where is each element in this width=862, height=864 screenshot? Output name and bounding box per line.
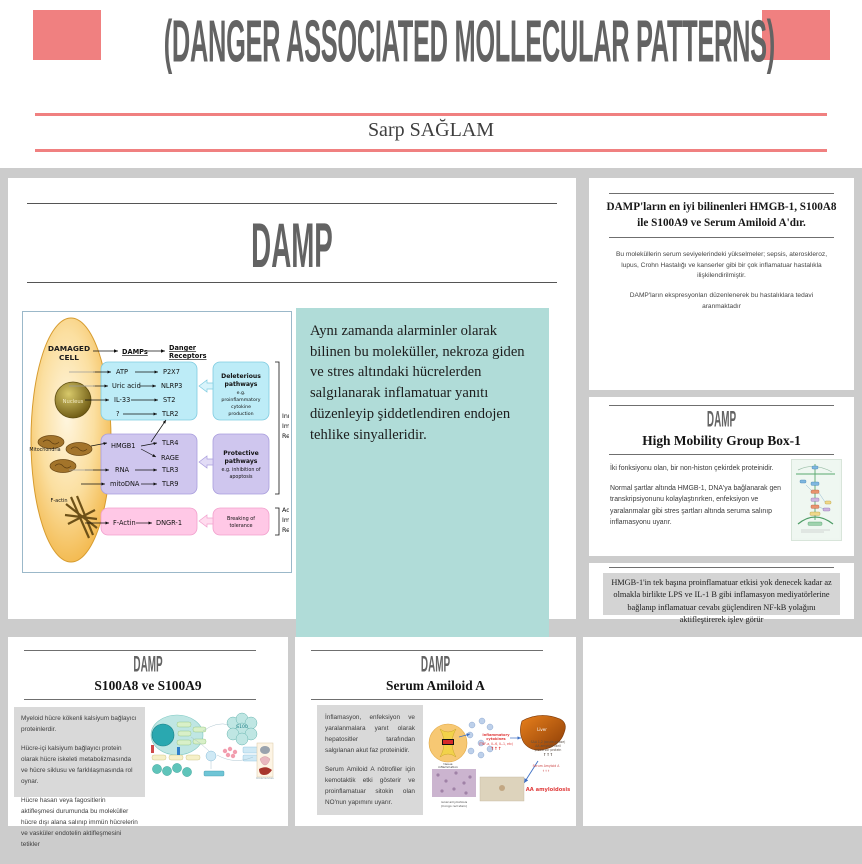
s100-body: Myeloid hücre kökenli kalsiyum bağlayıcı… <box>14 707 145 864</box>
hmgb1-callout-box: HMGB-1'in tek başına proinflamatuar etki… <box>603 573 840 615</box>
hmgb1-panel: DAMP High Mobility Group Box-1 İki fonks… <box>589 397 854 556</box>
svg-text:ATP: ATP <box>116 368 128 376</box>
hmgb1-divider-top <box>609 405 834 406</box>
svg-text:e.g.: e.g. <box>237 391 246 396</box>
best-known-paragraph-1: Bu moleküllerin serum seviyelerindeki yü… <box>611 250 832 282</box>
empty-panel <box>583 637 862 826</box>
best-known-body: Bu moleküllerin serum seviyelerindeki yü… <box>611 250 832 321</box>
svg-text:apoptosis: apoptosis <box>229 474 253 480</box>
hmgb1-paragraph-2: Normal şartlar altında HMGB-1, DNA'ya ba… <box>610 483 782 529</box>
svg-text:cytokine: cytokine <box>231 404 251 410</box>
svg-text:NLRP3: NLRP3 <box>161 382 182 390</box>
saa-mechanism-image: tissue inflammation Inflammatory cytokin… <box>426 703 572 815</box>
saa-mechanism-graphic: tissue inflammation Inflammatory cytokin… <box>426 703 572 815</box>
svg-text:DNGR-1: DNGR-1 <box>156 519 182 527</box>
saa-subtitle: Serum Amiloid A <box>295 678 576 694</box>
header-divider-top <box>35 113 827 116</box>
svg-text:P2X7: P2X7 <box>163 368 180 376</box>
svg-text:↑↑↑: ↑↑↑ <box>542 769 550 773</box>
svg-text:pathways: pathways <box>225 381 258 388</box>
svg-text:Responses: Responses <box>282 433 289 440</box>
hmgb1-pathway-graphic <box>792 460 839 538</box>
svg-text:Breaking of: Breaking of <box>227 516 255 522</box>
svg-text:Adaptive: Adaptive <box>282 507 289 514</box>
svg-text:ST2: ST2 <box>163 396 175 404</box>
svg-text:e.g. inhibition of: e.g. inhibition of <box>221 467 260 473</box>
svg-text:Serum Amyloid A: Serum Amyloid A <box>533 764 561 768</box>
s100-signaling-image: S100 <box>147 709 275 781</box>
svg-text:Danger: Danger <box>169 344 197 352</box>
svg-text:pathways: pathways <box>225 458 258 465</box>
svg-text:Protective: Protective <box>223 450 258 457</box>
svg-text:Mitochondria: Mitochondria <box>29 447 60 453</box>
poster-header: (DANGER ASSOCIATED MOLLECULAR PATTERNS) … <box>0 0 862 168</box>
svg-text:Uric acid: Uric acid <box>112 382 141 390</box>
svg-text:IL-33: IL-33 <box>114 396 130 404</box>
damp-definition-text: Aynı zamanda alarminler olarak bilinen b… <box>310 321 526 445</box>
svg-text:TLR9: TLR9 <box>161 480 178 488</box>
s100-divider-top <box>24 650 256 651</box>
s100-subtitle: S100A8 ve S100A9 <box>8 678 288 694</box>
best-known-paragraph-2: DAMP'ların ekspresyonları düzenlenerek b… <box>611 291 832 312</box>
svg-text:↑↑↑: ↑↑↑ <box>543 752 553 757</box>
hmgb1-body: İki fonksiyonu olan, bir non-histon çeki… <box>610 463 782 537</box>
svg-text:Deleterious: Deleterious <box>221 373 261 380</box>
best-known-title: DAMP'ların en iyi bilinenleri HMGB-1, S1… <box>605 200 838 231</box>
page-title: (DANGER ASSOCIATED MOLLECULAR PATTERNS) <box>164 8 698 76</box>
svg-text:Immune: Immune <box>282 423 289 430</box>
svg-text:?: ? <box>116 410 120 418</box>
saa-paragraph-1: İnflamasyon, enfeksiyon ve yaralanmalara… <box>325 712 415 756</box>
svg-text:F-actin: F-actin <box>50 498 67 504</box>
svg-text:RNA: RNA <box>115 466 130 474</box>
saa-text-box: İnflamasyon, enfeksiyon ve yaralanmalara… <box>317 705 423 815</box>
author-name: Sarp SAĞLAM <box>0 119 862 142</box>
saa-divider-top <box>311 650 543 651</box>
svg-text:F-Actin: F-Actin <box>113 519 136 527</box>
s100-damp-label: DAMP <box>56 652 241 678</box>
svg-text:mitoDNA: mitoDNA <box>110 480 140 488</box>
svg-text:biosciences: biosciences <box>256 776 274 780</box>
svg-text:proinflammatory: proinflammatory <box>221 397 260 403</box>
main-damp-title: DAMP <box>105 210 480 282</box>
s100-paragraph-1: Myeloid hücre kökenli kalsiyum bağlayıcı… <box>21 713 138 735</box>
header-divider-bottom <box>35 149 827 152</box>
main-content-panel: DAMP <box>8 178 576 619</box>
best-known-divider-top <box>609 193 834 194</box>
svg-text:(Congo red stain): (Congo red stain) <box>441 804 467 808</box>
saa-damp-label: DAMP <box>343 652 528 678</box>
hmgb1-subtitle: High Mobility Group Box-1 <box>589 433 854 449</box>
saa-paragraph-2: Serum Amiloid A nötrofiler için kemotakt… <box>325 764 415 808</box>
svg-text:DAMPs: DAMPs <box>122 348 148 356</box>
main-divider-bottom <box>27 282 557 283</box>
main-divider-top <box>27 203 557 204</box>
svg-text:Receptors: Receptors <box>169 352 207 360</box>
saa-body: İnflamasyon, enfeksiyon ve yaralanmalara… <box>317 705 423 823</box>
s100-paragraph-2: Hücre-içi kalsiyum bağlayıcı protein ola… <box>21 743 138 787</box>
hmgb1-damp-label: DAMP <box>634 407 809 433</box>
hmgb1-callout-text: HMGB-1'in tek başına proinflamatuar etki… <box>607 577 836 627</box>
svg-text:AA amyloidosis: AA amyloidosis <box>526 787 570 793</box>
svg-text:RAGE: RAGE <box>161 454 179 462</box>
svg-text:Responses: Responses <box>282 527 289 534</box>
svg-text:HMGB1: HMGB1 <box>111 442 135 450</box>
svg-text:Immune: Immune <box>282 517 289 524</box>
s100-divider-bottom <box>24 699 256 700</box>
svg-text:cytokines: cytokines <box>486 737 505 741</box>
svg-text:DAMAGED: DAMAGED <box>48 344 90 353</box>
saa-divider-bottom <box>311 699 543 700</box>
svg-text:S100: S100 <box>236 724 248 730</box>
hmgb1-paragraph-1: İki fonksiyonu olan, bir non-histon çeki… <box>610 463 782 475</box>
svg-text:inflammation: inflammation <box>438 765 458 769</box>
svg-text:(TNF-a, IL-6, IL-1, etc): (TNF-a, IL-6, IL-1, etc) <box>479 742 513 746</box>
svg-text:TLR4: TLR4 <box>161 439 178 447</box>
serum-amyloid-a-panel: DAMP Serum Amiloid A İnflamasyon, enfeks… <box>295 637 576 826</box>
svg-text:Innate: Innate <box>282 413 289 420</box>
s100a8-s100a9-panel: DAMP S100A8 ve S100A9 Myeloid hücre köke… <box>8 637 288 826</box>
svg-text:Nucleus: Nucleus <box>63 399 84 405</box>
hmgb1-divider-bottom <box>609 454 834 455</box>
best-known-divider-bottom <box>609 237 834 238</box>
hmgb1-pathway-image <box>791 459 842 541</box>
best-known-damps-panel: DAMP'ların en iyi bilinenleri HMGB-1, S1… <box>589 178 854 390</box>
header-accent-square-left <box>33 10 101 60</box>
svg-text:↑↑↑: ↑↑↑ <box>490 746 501 752</box>
svg-text:TLR2: TLR2 <box>161 410 178 418</box>
svg-text:CELL: CELL <box>59 353 79 362</box>
svg-text:TLR3: TLR3 <box>161 466 178 474</box>
svg-text:tolerance: tolerance <box>229 523 252 529</box>
s100-paragraph-3: Hücre hasarı veya fagositlerin aktifleşm… <box>21 795 138 850</box>
s100-text-box: Myeloid hücre kökenli kalsiyum bağlayıcı… <box>14 707 145 797</box>
s100-signaling-graphic: S100 <box>147 709 275 781</box>
svg-text:production: production <box>228 411 253 417</box>
damp-mechanism-diagram: Nucleus DAMAGED CELL Mitochondria F-a <box>22 311 292 573</box>
svg-text:Liver: Liver <box>537 727 547 732</box>
hmgb1-callout-panel: HMGB-1'in tek başına proinflamatuar etki… <box>589 563 854 619</box>
hmgb1-callout-divider <box>609 567 834 568</box>
damp-diagram-svg: Nucleus DAMAGED CELL Mitochondria F-a <box>23 312 289 570</box>
